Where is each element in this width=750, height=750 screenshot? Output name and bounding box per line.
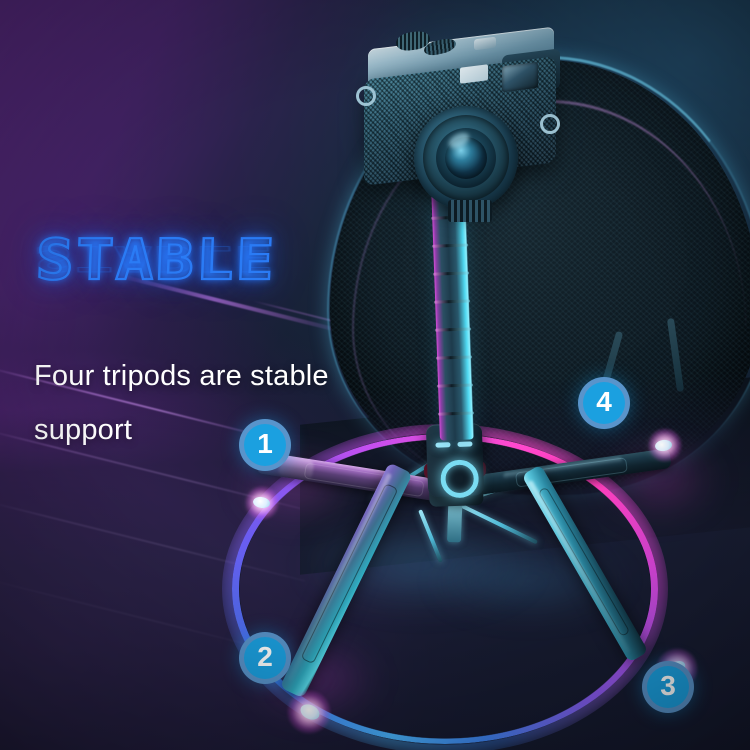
vignette-overlay <box>0 0 750 750</box>
product-marketing-image: STABLE STABLE Four tripods are stable su… <box>0 0 750 750</box>
